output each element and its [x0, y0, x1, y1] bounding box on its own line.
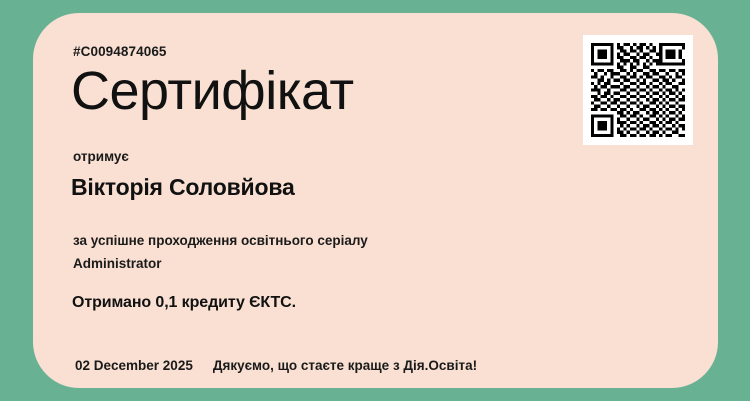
- reason-block: за успішне проходження освітнього серіал…: [73, 229, 553, 275]
- thank-you-message: Дякуємо, що стаєте краще з Дія.Освіта!: [213, 358, 477, 373]
- certificate-footer: 02 December 2025 Дякуємо, що стаєте кращ…: [75, 358, 477, 373]
- certificate-title: Сертифікат: [71, 62, 354, 121]
- issue-date: 02 December 2025: [75, 358, 193, 373]
- reason-line-course-name: Administrator: [73, 252, 553, 275]
- qr-code-icon[interactable]: [591, 43, 685, 137]
- reason-line-course: за успішне проходження освітнього серіал…: [73, 229, 553, 252]
- credits-line: Отримано 0,1 кредиту ЄКТС.: [72, 294, 296, 312]
- certificate-card: #C0094874065 Сертифікат отримує Вікторія…: [33, 13, 718, 388]
- certificate-screen: #C0094874065 Сертифікат отримує Вікторія…: [0, 0, 750, 401]
- certificate-id: #C0094874065: [73, 44, 167, 59]
- qr-code-panel: [583, 35, 693, 145]
- recipient-name: Вікторія Соловйова: [71, 174, 295, 201]
- receives-label: отримує: [73, 149, 129, 164]
